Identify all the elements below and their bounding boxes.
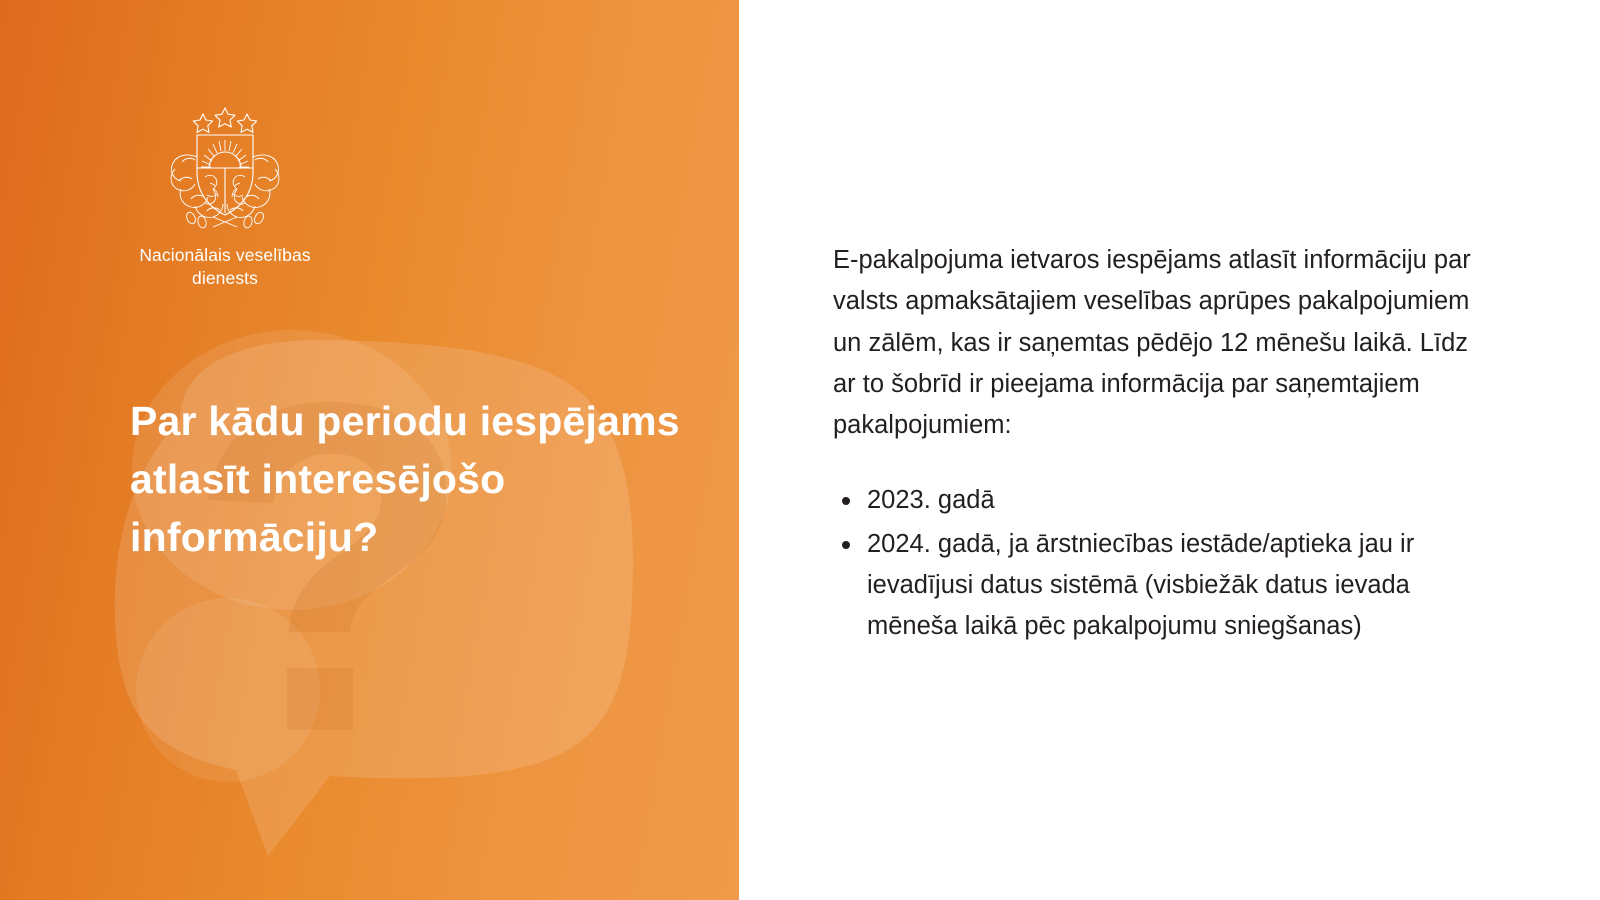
availability-bullet-list: 2023. gadā 2024. gadā, ja ārstniecības i…	[833, 480, 1488, 647]
latvian-coat-of-arms-icon	[169, 105, 281, 230]
organisation-logo: Nacionālais veselības dienests	[110, 105, 340, 290]
logo-text-line-1: Nacionālais veselības	[110, 244, 340, 267]
list-item: 2023. gadā	[833, 480, 1488, 521]
left-orange-panel: ?	[0, 0, 739, 900]
logo-text-line-2: dienests	[110, 267, 340, 290]
list-item: 2024. gadā, ja ārstniecības iestāde/apti…	[833, 524, 1488, 648]
page-title: Par kādu periodu iespējams atlasīt inter…	[130, 392, 690, 567]
slide-root: ?	[0, 0, 1600, 900]
svg-text:?: ?	[186, 305, 473, 830]
question-mark-speech-bubble-watermark: ?	[0, 300, 739, 900]
right-content-panel: E-pakalpojuma ietvaros iespējams atlasīt…	[739, 0, 1600, 900]
body-paragraph: E-pakalpojuma ietvaros iespējams atlasīt…	[833, 240, 1490, 446]
